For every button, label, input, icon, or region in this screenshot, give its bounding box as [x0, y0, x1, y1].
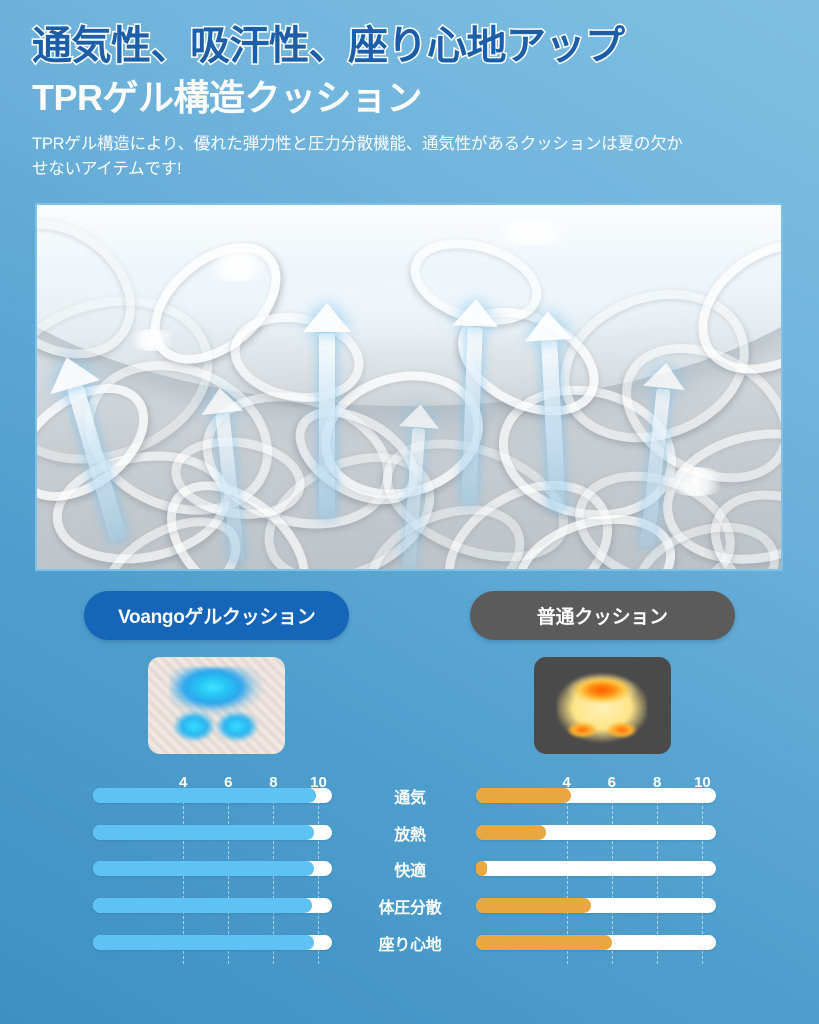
thermal-blob-cool — [170, 667, 263, 745]
metric-label-体圧分散: 体圧分散 — [340, 894, 480, 918]
bar-fill-体圧分散 — [93, 898, 312, 913]
thermal-blob-hot — [557, 666, 647, 746]
bar-fill-放熱 — [93, 825, 314, 840]
bar-fill-座り心地 — [476, 935, 612, 950]
metric-label-通気: 通気 — [340, 784, 480, 808]
bar-row-voango-快適 — [93, 861, 332, 876]
comparison-column-right: 普通クッション — [410, 591, 796, 754]
thermal-image-hot — [534, 657, 671, 754]
bar-row-plain-体圧分散 — [476, 898, 716, 913]
bar-row-plain-放熱 — [476, 825, 716, 840]
comparison-section: Voangoゲルクッション 普通クッション — [0, 591, 819, 754]
bar-row-voango-放熱 — [93, 825, 332, 840]
bar-fill-放熱 — [476, 825, 546, 840]
metric-label-座り心地: 座り心地 — [340, 931, 480, 955]
bar-fill-快適 — [93, 861, 314, 876]
bar-row-plain-快適 — [476, 861, 716, 876]
hero-image-wrap — [35, 203, 783, 571]
hero-image-gel-airflow — [35, 203, 783, 571]
bar-fill-通気 — [476, 788, 571, 803]
bar-row-plain-座り心地 — [476, 935, 716, 950]
thermal-image-cool — [148, 657, 285, 754]
page-subtitle: TPRゲル構造クッション — [32, 75, 789, 120]
metric-label-放熱: 放熱 — [340, 821, 480, 845]
bar-row-plain-通気 — [476, 788, 716, 803]
bar-row-voango-通気 — [93, 788, 332, 803]
bar-row-voango-体圧分散 — [93, 898, 332, 913]
comparison-column-left: Voangoゲルクッション — [24, 591, 410, 754]
bar-fill-体圧分散 — [476, 898, 591, 913]
description-text: TPRゲル構造により、優れた弾力性と圧力分散機能、通気性があるクッションは夏の欠… — [32, 132, 692, 182]
metric-label-快適: 快適 — [340, 857, 480, 881]
bar-row-voango-座り心地 — [93, 935, 332, 950]
bar-track — [476, 861, 716, 876]
brand-label-pill[interactable]: Voangoゲルクッション — [84, 591, 349, 640]
bar-fill-座り心地 — [93, 935, 314, 950]
page-header: 通気性、吸汗性、座り心地アップ TPRゲル構造クッション TPRゲル構造により、… — [0, 0, 819, 181]
bar-fill-通気 — [93, 788, 316, 803]
comparison-bar-chart: 4681046810通気放熱快適体圧分散座り心地 — [0, 764, 819, 964]
plain-label-pill[interactable]: 普通クッション — [470, 591, 735, 640]
page-title: 通気性、吸汗性、座り心地アップ — [32, 24, 789, 69]
